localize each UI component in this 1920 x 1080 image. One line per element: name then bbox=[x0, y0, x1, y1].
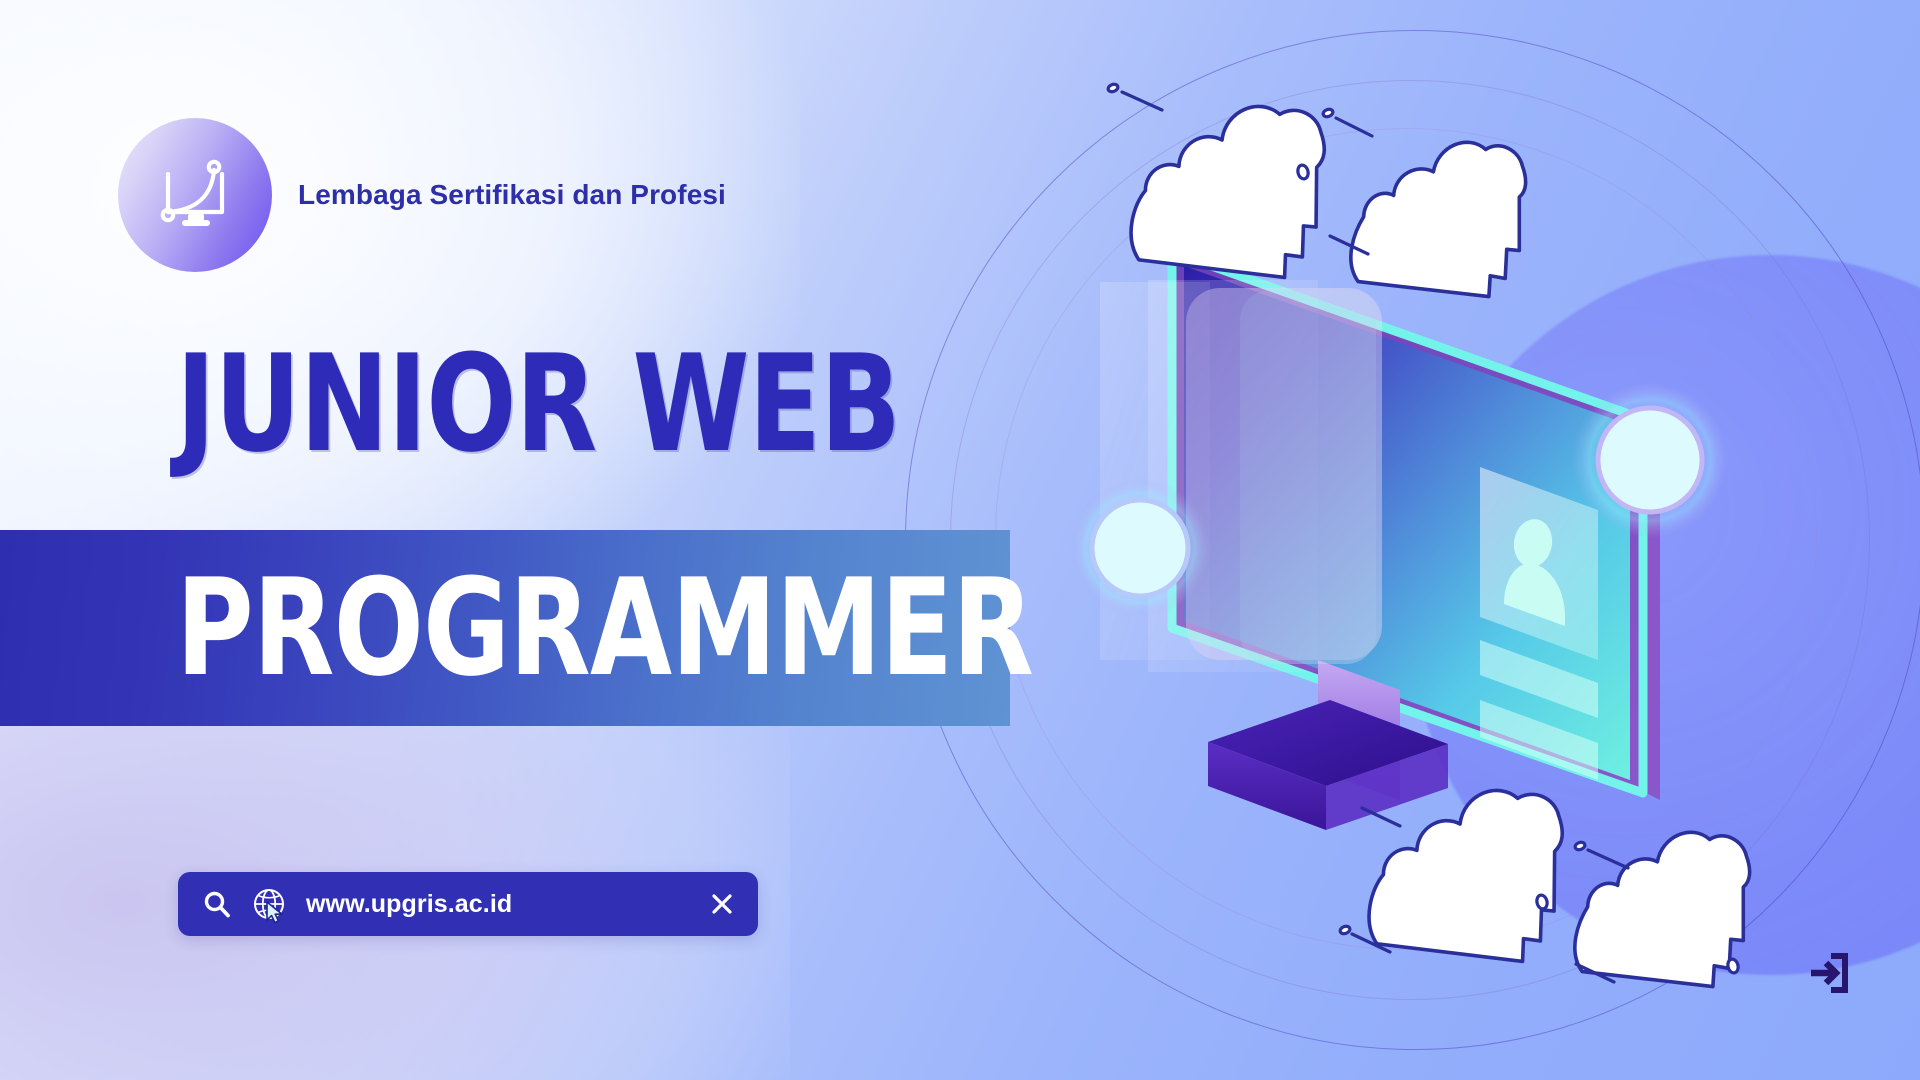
url-text[interactable]: www.upgris.ac.id bbox=[306, 890, 688, 919]
search-icon[interactable] bbox=[202, 889, 232, 919]
monitor-pen-curve-icon bbox=[152, 152, 238, 238]
url-search-bar[interactable]: www.upgris.ac.id bbox=[178, 872, 758, 936]
logo-badge bbox=[118, 118, 272, 272]
brand-header: Lembaga Sertifikasi dan Profesi bbox=[118, 118, 726, 272]
hero-title-line-2: PROGRAMMER bbox=[176, 572, 1033, 685]
orbit-ring-inner bbox=[995, 128, 1817, 950]
login-arrow-icon[interactable] bbox=[1805, 950, 1851, 996]
hero-title-line-1: JUNIOR WEB bbox=[176, 348, 900, 461]
org-name: Lembaga Sertifikasi dan Profesi bbox=[298, 179, 726, 211]
close-icon[interactable] bbox=[708, 890, 736, 918]
mouse-cursor-icon bbox=[265, 901, 287, 930]
globe-icon[interactable] bbox=[252, 887, 286, 921]
poster-canvas: Lembaga Sertifikasi dan Profesi JUNIOR W… bbox=[0, 0, 1920, 1080]
